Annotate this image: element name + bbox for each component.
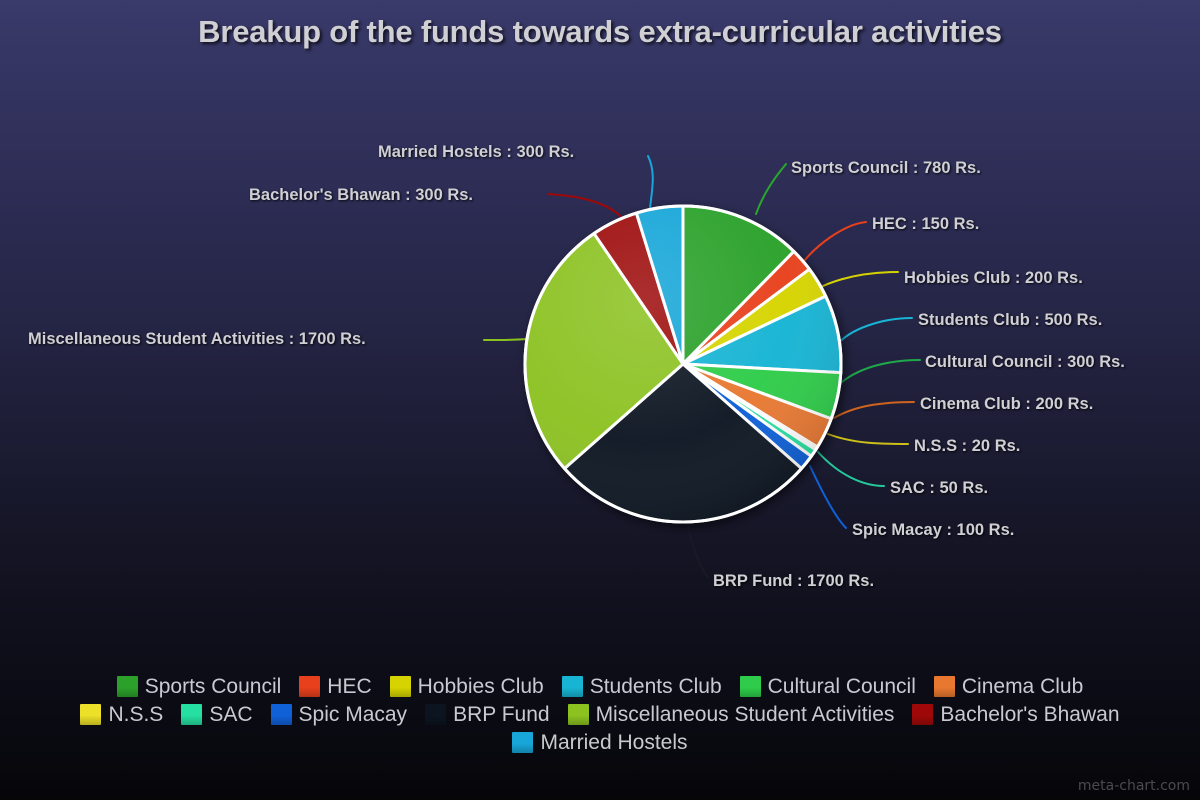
callout-leader-line (834, 402, 914, 418)
legend-color-swatch (181, 704, 202, 725)
legend-color-swatch (425, 704, 446, 725)
legend-item-label: Married Hostels (540, 732, 687, 753)
legend-item[interactable]: N.S.S (80, 700, 163, 728)
callout-leader-line (828, 434, 908, 444)
legend-item[interactable]: Cultural Council (740, 672, 916, 700)
slice-callout-label: Married Hostels : 300 Rs. (378, 143, 574, 162)
legend-item[interactable]: SAC (181, 700, 252, 728)
slice-callout-label: Hobbies Club : 200 Rs. (904, 269, 1083, 288)
legend-item[interactable]: Bachelor's Bhawan (912, 700, 1119, 728)
legend-item-label: Sports Council (145, 676, 282, 697)
legend-item-label: HEC (327, 676, 371, 697)
legend-item-label: N.S.S (108, 704, 163, 725)
legend-item-label: Bachelor's Bhawan (940, 704, 1119, 725)
legend-color-swatch (568, 704, 589, 725)
callout-leader-line (842, 360, 920, 382)
pie-chart-area: Married Hostels : 300 Rs.Bachelor's Bhaw… (0, 0, 1200, 660)
legend-item-label: Spic Macay (299, 704, 408, 725)
legend-item[interactable]: Cinema Club (934, 672, 1083, 700)
slice-callout-label: Sports Council : 780 Rs. (791, 159, 981, 178)
legend-item-label: BRP Fund (453, 704, 550, 725)
legend-item[interactable]: Hobbies Club (390, 672, 544, 700)
chart-canvas: Breakup of the funds towards extra-curri… (0, 0, 1200, 800)
legend-color-swatch (117, 676, 138, 697)
legend-item-label: Cultural Council (768, 676, 916, 697)
legend-color-swatch (80, 704, 101, 725)
slice-callout-label: N.S.S : 20 Rs. (914, 437, 1020, 456)
callout-leader-line (648, 156, 653, 208)
legend-item-label: Miscellaneous Student Activities (596, 704, 895, 725)
legend-item-label: Cinema Club (962, 676, 1083, 697)
legend-item[interactable]: Sports Council (117, 672, 282, 700)
callout-leader-line (688, 524, 708, 578)
legend-color-swatch (934, 676, 955, 697)
legend-color-swatch (740, 676, 761, 697)
legend-item-label: Hobbies Club (418, 676, 544, 697)
slice-callout-label: Bachelor's Bhawan : 300 Rs. (249, 186, 473, 205)
chart-legend: Sports CouncilHECHobbies ClubStudents Cl… (0, 672, 1200, 756)
legend-color-swatch (512, 732, 533, 753)
legend-color-swatch (390, 676, 411, 697)
slice-callout-label: HEC : 150 Rs. (872, 215, 979, 234)
slice-callout-label: Cultural Council : 300 Rs. (925, 353, 1125, 372)
legend-item[interactable]: BRP Fund (425, 700, 550, 728)
watermark: meta-chart.com (1078, 778, 1190, 794)
slice-callout-label: Students Club : 500 Rs. (918, 311, 1102, 330)
legend-item[interactable]: Married Hostels (512, 728, 687, 756)
pie-slices (525, 206, 841, 522)
legend-item[interactable]: HEC (299, 672, 371, 700)
legend-item[interactable]: Spic Macay (271, 700, 408, 728)
legend-color-swatch (562, 676, 583, 697)
slice-callout-label: BRP Fund : 1700 Rs. (713, 572, 874, 591)
callout-leader-line (836, 318, 912, 346)
callout-leader-line (810, 466, 846, 528)
slice-callout-label: Miscellaneous Student Activities : 1700 … (28, 330, 366, 349)
slice-callout-label: Cinema Club : 200 Rs. (920, 395, 1093, 414)
callout-leader-line (756, 164, 786, 214)
legend-color-swatch (912, 704, 933, 725)
legend-item-label: SAC (209, 704, 252, 725)
slice-callout-label: Spic Macay : 100 Rs. (852, 521, 1014, 540)
callout-leader-line (818, 452, 884, 486)
callout-leader-line (548, 194, 626, 222)
legend-color-swatch (299, 676, 320, 697)
legend-item[interactable]: Students Club (562, 672, 722, 700)
legend-item-label: Students Club (590, 676, 722, 697)
legend-item[interactable]: Miscellaneous Student Activities (568, 700, 895, 728)
slice-callout-label: SAC : 50 Rs. (890, 479, 988, 498)
legend-color-swatch (271, 704, 292, 725)
